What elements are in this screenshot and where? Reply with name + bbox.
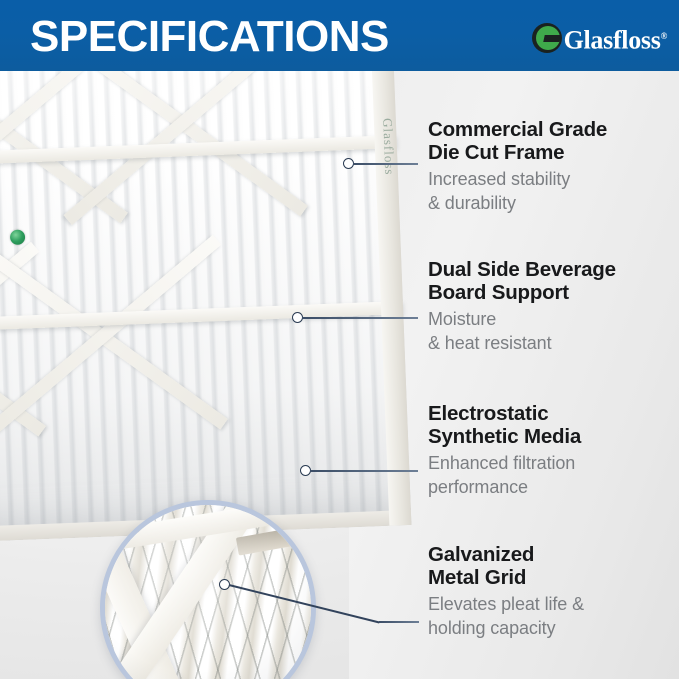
callout-title-line1: Dual Side Beverage [428,258,676,281]
callout-title: Galvanized Metal Grid [428,543,676,589]
callout-block-synthetic-media: Electrostatic Synthetic Media Enhanced f… [428,402,676,499]
callout-title-line2: Synthetic Media [428,425,676,448]
page-title: SPECIFICATIONS [30,13,389,61]
magnified-detail-circle [100,500,316,679]
brand-logo-text: Glasfloss® [564,22,667,55]
air-filter-product: Glasfloss [0,71,411,545]
header-bar: SPECIFICATIONS Glasfloss® [0,0,679,71]
callout-title-line1: Galvanized [428,543,676,566]
callout-sub-line1: Increased stability [428,167,676,191]
callout-title-line2: Board Support [428,281,676,304]
frame-brand-text: Glasfloss [379,118,397,176]
callout-title-line1: Electrostatic [428,402,676,425]
brand-trademark: ® [661,31,667,41]
callout-line-metal-grid-tail [379,621,419,623]
brand-name: Glasfloss [564,25,661,54]
brand-logo: Glasfloss® [532,21,667,55]
callout-subtitle: Moisture & heat resistant [428,307,676,355]
callout-title-line1: Commercial Grade [428,118,676,141]
callout-line-die-cut-frame [353,163,418,165]
callout-sub-line1: Elevates pleat life & [428,592,676,616]
callout-line-synthetic-media [310,470,418,472]
callout-line-beverage-board [302,317,418,319]
callout-subtitle: Elevates pleat life & holding capacity [428,592,676,640]
callout-block-beverage-board: Dual Side Beverage Board Support Moistur… [428,258,676,355]
callout-sub-line2: & durability [428,191,676,215]
glasfloss-g-swoosh-icon [532,23,562,53]
callout-sub-line1: Moisture [428,307,676,331]
callout-block-die-cut-frame: Commercial Grade Die Cut Frame Increased… [428,118,676,215]
specifications-infographic: SPECIFICATIONS Glasfloss® [0,0,679,679]
callout-title-line2: Metal Grid [428,566,676,589]
callout-title-line2: Die Cut Frame [428,141,676,164]
callout-title: Commercial Grade Die Cut Frame [428,118,676,164]
callout-subtitle: Increased stability & durability [428,167,676,215]
callout-sub-line2: holding capacity [428,616,676,640]
callout-subtitle: Enhanced filtration performance [428,451,676,499]
callout-sub-line1: Enhanced filtration [428,451,676,475]
callout-block-metal-grid: Galvanized Metal Grid Elevates pleat lif… [428,543,676,640]
callout-title: Electrostatic Synthetic Media [428,402,676,448]
callout-sub-line2: & heat resistant [428,331,676,355]
callout-title: Dual Side Beverage Board Support [428,258,676,304]
callout-sub-line2: performance [428,475,676,499]
